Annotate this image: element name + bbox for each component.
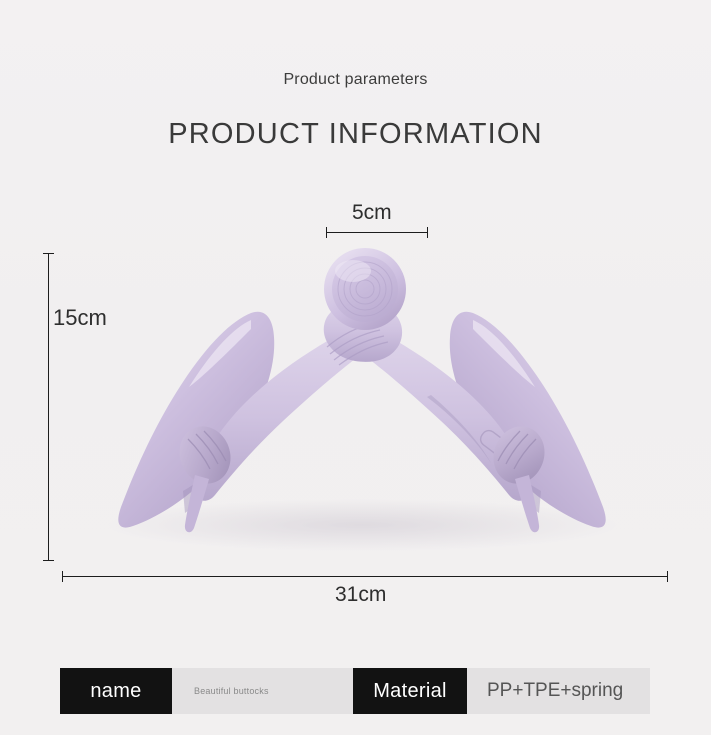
dimension-line-length: [62, 576, 668, 577]
dimension-cap-height-top: [43, 253, 54, 254]
spec-value-name: Beautiful buttocks: [172, 668, 353, 714]
product-shadow: [107, 499, 617, 551]
spec-key-material: Material: [353, 668, 467, 714]
dimension-cap-length-left: [62, 571, 63, 582]
dimension-cap-width-left: [326, 227, 327, 238]
center-head-gloss: [335, 260, 371, 282]
dimension-label-width: 5cm: [352, 201, 392, 225]
dimension-cap-length-right: [667, 571, 668, 582]
page-title: PRODUCT INFORMATION: [0, 118, 711, 151]
spec-table: name Beautiful buttocks Material PP+TPE+…: [60, 668, 650, 714]
product-information-page: Product parameters PRODUCT INFORMATION: [0, 0, 711, 735]
dimension-line-width: [326, 232, 428, 233]
page-subtitle: Product parameters: [0, 71, 711, 89]
dimension-label-height: 15cm: [53, 305, 107, 331]
dimension-cap-height-bottom: [43, 560, 54, 561]
dimension-line-height: [48, 253, 49, 561]
dimension-cap-width-right: [427, 227, 428, 238]
dimension-label-length: 31cm: [335, 583, 386, 607]
spec-key-name: name: [60, 668, 172, 714]
spec-value-material: PP+TPE+spring: [467, 668, 650, 714]
product-illustration: [55, 225, 670, 555]
